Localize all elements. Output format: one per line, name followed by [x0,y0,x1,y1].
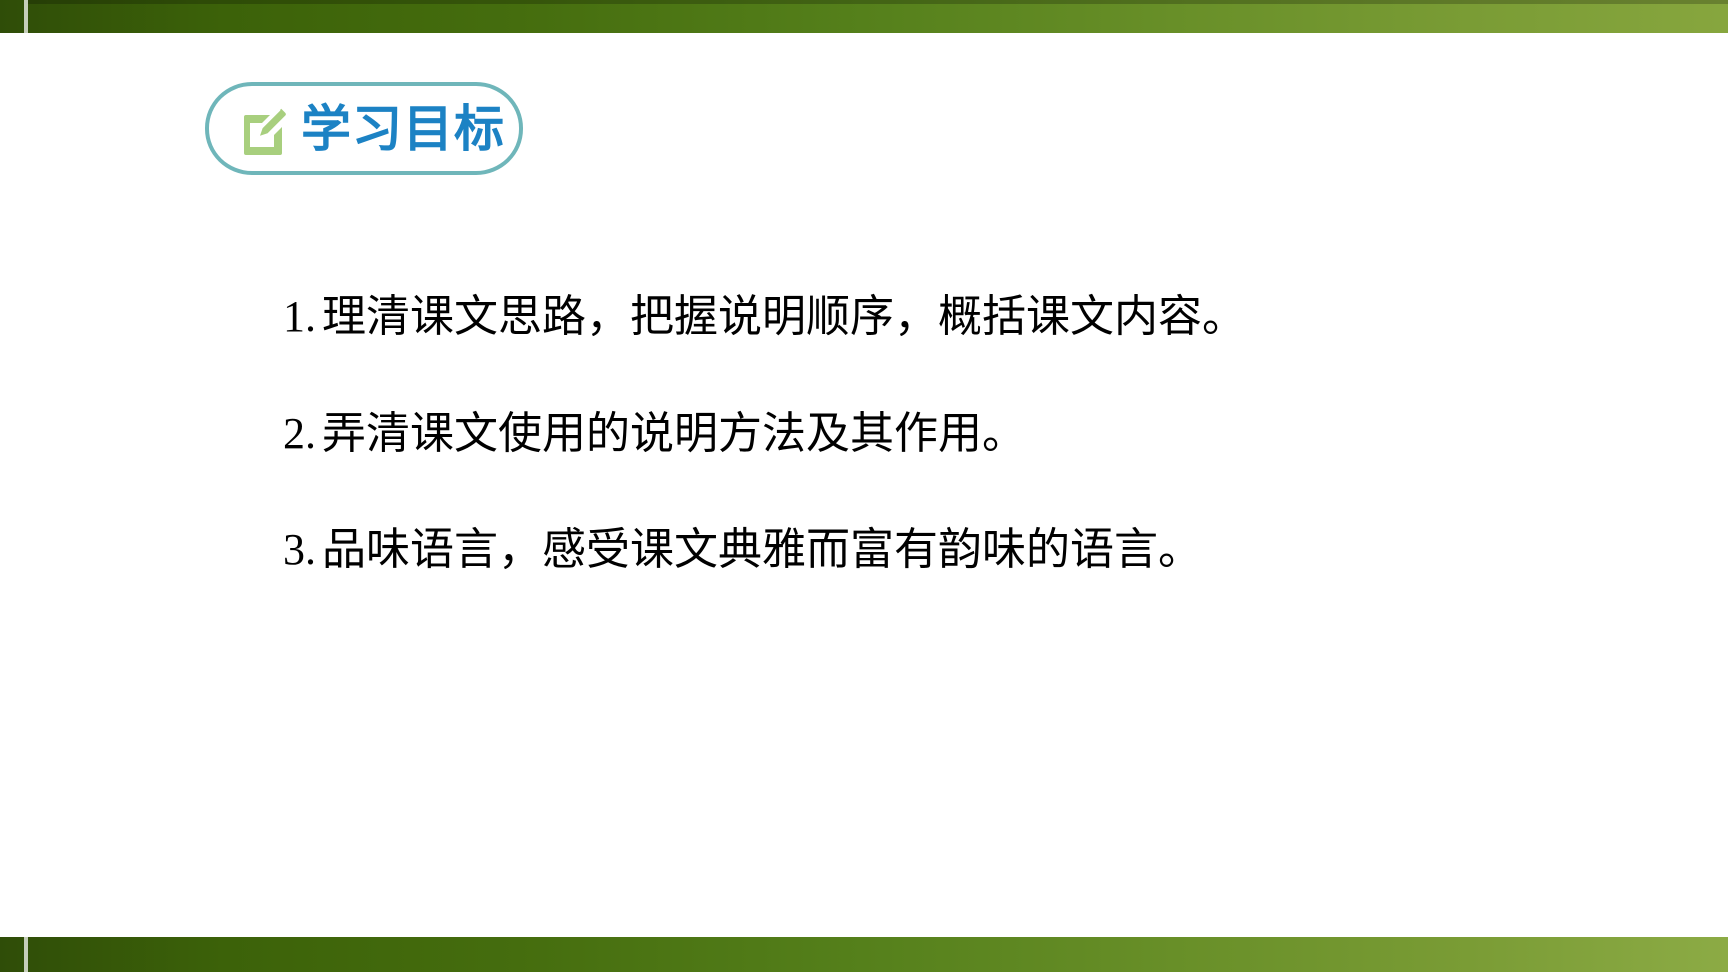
slide-canvas: 学习目标 1. 理清课文思路，把握说明顺序，概括课文内容。 2. 弄清课文使用的… [0,0,1728,972]
objective-item-2: 2. 弄清课文使用的说明方法及其作用。 [283,409,1603,460]
top-bar-notch [24,0,28,33]
objective-item-1: 1. 理清课文思路，把握说明顺序，概括课文内容。 [283,292,1603,343]
bottom-bar-notch [24,937,28,972]
objective-number-1: 1. [283,292,316,343]
top-decorative-bar [0,0,1728,33]
badge-title: 学习目标 [301,104,505,154]
objective-number-2: 2. [283,409,316,460]
top-bar-shade [28,0,1728,4]
objective-text-3: 品味语言，感受课文典雅而富有韵味的语言。 [322,525,1202,576]
objectives-list: 1. 理清课文思路，把握说明顺序，概括课文内容。 2. 弄清课文使用的说明方法及… [283,292,1603,576]
objective-text-2: 弄清课文使用的说明方法及其作用。 [322,409,1026,460]
objective-item-3: 3. 品味语言，感受课文典雅而富有韵味的语言。 [283,525,1603,576]
learning-objectives-badge: 学习目标 [205,82,523,175]
edit-pencil-icon [237,102,291,156]
bottom-decorative-bar [0,937,1728,972]
objective-text-1: 理清课文思路，把握说明顺序，概括课文内容。 [322,292,1246,343]
objective-number-3: 3. [283,525,316,576]
